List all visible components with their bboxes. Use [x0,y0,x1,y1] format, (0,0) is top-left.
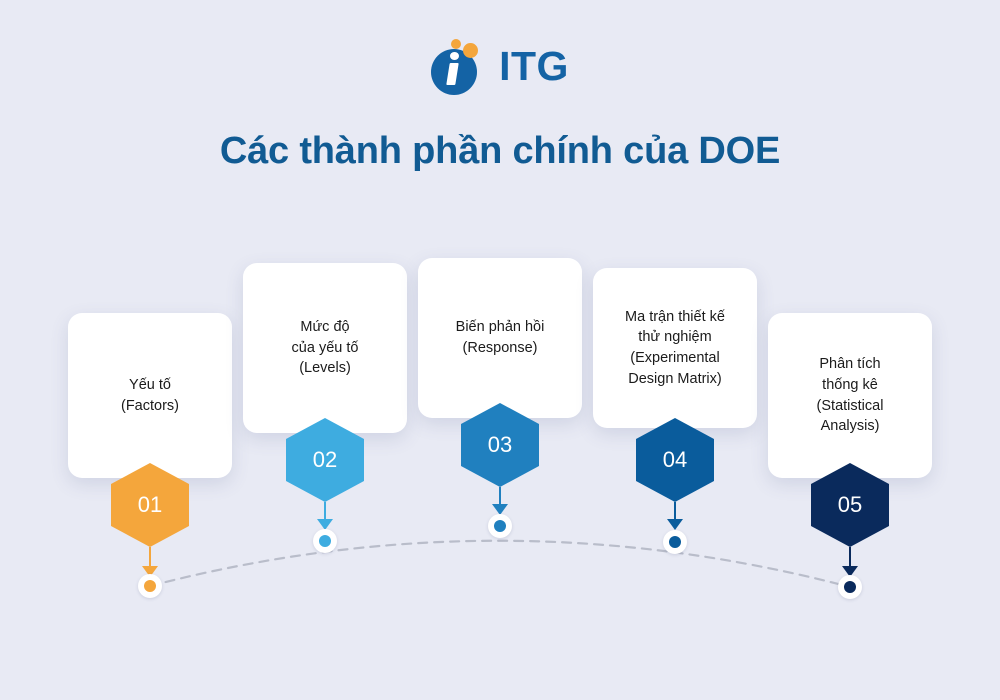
logo-accent-dot-large [463,43,478,58]
step-02-number: 02 [313,449,337,471]
brand-logo: ITG [0,36,1000,98]
step-02-timeline-node[interactable] [313,529,337,553]
step-05-text-line-3: (Statistical [817,396,884,417]
step-04-number: 04 [663,449,687,471]
step-03-node-core [494,520,506,532]
step-05-number: 05 [838,494,862,516]
step-03-card-text: Biến phản hồi (Response) [456,317,545,358]
step-03-text-line-2: (Response) [456,338,545,359]
step-01-timeline-node[interactable] [138,574,162,598]
step-04-timeline-node[interactable] [663,530,687,554]
step-02-text-line-1: Mức độ [292,317,359,338]
step-03-number: 03 [488,434,512,456]
step-02-card[interactable]: Mức độ của yếu tố (Levels) [243,263,407,433]
step-01-node-core [144,580,156,592]
step-04-hexagon-badge[interactable]: 04 [636,418,714,502]
step-05-node-core [844,581,856,593]
step-05-text-line-1: Phân tích [817,354,884,375]
step-04-text-line-1: Ma trận thiết kế [625,307,725,328]
step-05-timeline-node[interactable] [838,575,862,599]
step-02-card-text: Mức độ của yếu tố (Levels) [292,317,359,379]
step-04-text-line-4: Design Matrix) [625,369,725,390]
step-04-text-line-2: thử nghiệm [625,327,725,348]
step-04-arrow-icon [667,519,683,530]
step-03-card[interactable]: Biến phản hồi (Response) [418,258,582,418]
step-05-text-line-2: thống kê [817,375,884,396]
step-03-timeline-node[interactable] [488,514,512,538]
step-01-text-line-2: (Factors) [121,396,179,417]
step-02-text-line-2: của yếu tố [292,338,359,359]
step-02-text-line-3: (Levels) [292,358,359,379]
logo-wordmark: ITG [499,46,569,89]
step-01-card-text: Yếu tố (Factors) [121,375,179,416]
step-01-text-line-1: Yếu tố [121,375,179,396]
itg-logo-mark-icon [431,39,487,95]
step-04-card[interactable]: Ma trận thiết kế thử nghiệm (Experimenta… [593,268,757,428]
infographic-root: ITG Các thành phần chính của DOE Yếu tố … [0,0,1000,700]
step-05-text-line-4: Analysis) [817,416,884,437]
step-04-card-text: Ma trận thiết kế thử nghiệm (Experimenta… [625,307,725,389]
timeline-arc-path [150,541,850,587]
logo-accent-dot-small [451,39,461,49]
step-04-text-line-3: (Experimental [625,348,725,369]
step-03-text-line-1: Biến phản hồi [456,317,545,338]
step-02-node-core [319,535,331,547]
step-05-card[interactable]: Phân tích thống kê (Statistical Analysis… [768,313,932,478]
step-04-node-core [669,536,681,548]
page-title: Các thành phần chính của DOE [0,130,1000,173]
step-01-number: 01 [138,494,162,516]
step-01-card[interactable]: Yếu tố (Factors) [68,313,232,478]
step-05-card-text: Phân tích thống kê (Statistical Analysis… [817,354,884,436]
